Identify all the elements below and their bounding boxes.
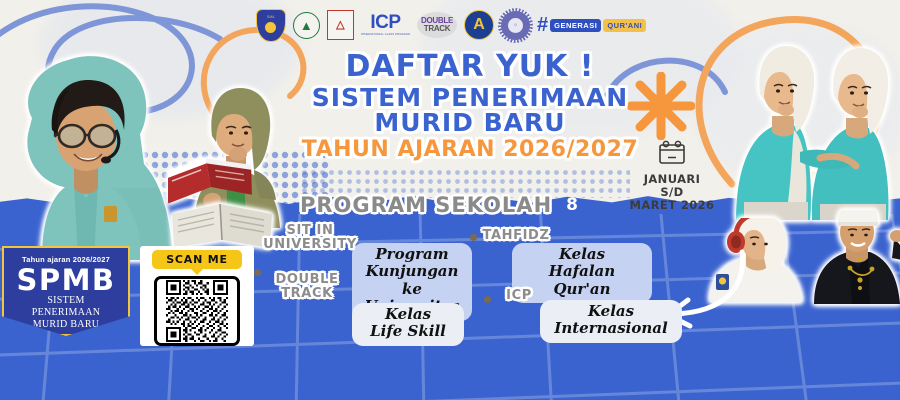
schedule-block: JANUARI S/D MARET 2026 — [618, 140, 726, 212]
program-tag-tahfidz-line1: TAHFIDZ — [478, 229, 554, 243]
sekolah-penggerak-logo: △ — [327, 10, 354, 40]
hashtag-icon: # — [537, 15, 548, 35]
program-desc-life-skill-line1: Kelas — [362, 306, 454, 323]
schedule-month-end: MARET 2026 — [618, 199, 726, 212]
partner-logo-strip: SMA ▲ △ ICP INTERNATIONAL CLASS PROGRAM … — [236, 6, 666, 44]
bullet-dot-tahfidz — [470, 234, 477, 241]
spmb-card-acronym: SPMB — [16, 265, 115, 295]
headline-block: DAFTAR YUK ! SISTEM PENERIMAAN MURID BAR… — [295, 52, 645, 161]
double-track-logo: DOUBLE TRACK — [417, 12, 457, 38]
program-desc-internasional-line2: Internasional — [550, 320, 672, 337]
icp-logo: ICP INTERNATIONAL CLASS PROGRAM — [361, 14, 410, 35]
program-tag-double-track: DOUBLE TRACK — [262, 273, 352, 301]
program-desc-kelas-life-skill: Kelas Life Skill — [352, 303, 464, 346]
program-tag-double-track-line2: TRACK — [262, 287, 352, 301]
student-formal-attire-photo — [808, 210, 900, 304]
program-tag-icp-line1: ICP — [496, 289, 542, 303]
spmb-promo-banner: SMA ▲ △ ICP INTERNATIONAL CLASS PROGRAM … — [0, 0, 900, 400]
program-desc-kunjungan-line1: Program — [362, 246, 462, 263]
program-tag-icp: ICP — [496, 289, 542, 303]
two-students-hijab-photo — [724, 20, 896, 220]
calendar-icon — [657, 140, 687, 165]
program-section-title: PROGRAM SEKOLAH — [300, 193, 552, 217]
muhammadiyah-sun-logo: ☼ — [501, 11, 530, 40]
qurani-label: QUR'ANI — [603, 19, 646, 32]
headline-tahun-ajaran: TAHUN AJARAN 2026/2027 — [295, 139, 645, 161]
program-tag-double-track-line1: DOUBLE — [262, 273, 352, 287]
schedule-month-start: JANUARI — [618, 173, 726, 186]
icp-logo-subtext: INTERNATIONAL CLASS PROGRAM — [361, 33, 410, 36]
qr-code-icon[interactable] — [162, 280, 232, 342]
program-tag-sit-in-university: SIT IN UNIVERSITY — [262, 224, 358, 252]
qr-scan-card[interactable]: SCAN ME — [140, 246, 254, 346]
scan-me-label: SCAN ME — [152, 250, 242, 269]
bullet-dot-icp — [484, 296, 491, 303]
adiwiyata-a-text: A — [473, 17, 485, 33]
double-track-line2: TRACK — [424, 25, 451, 33]
generasi-qurani-logo: # GENERASI QUR'ANI — [537, 15, 646, 35]
program-desc-internasional-line1: Kelas — [550, 303, 672, 320]
program-desc-kunjungan-line2: Kunjungan ke — [362, 263, 462, 298]
spmb-card-sub-line2: PENERIMAAN — [32, 308, 101, 319]
spmb-card-sub-line1: SISTEM — [47, 296, 84, 307]
headline-daftar-yuk: DAFTAR YUK ! — [295, 52, 645, 83]
shield-emblem-icon — [263, 20, 278, 35]
program-tag-sit-in-university-line2: UNIVERSITY — [262, 238, 358, 252]
headline-murid-baru: MURID BARU — [295, 110, 645, 136]
program-desc-kelas-internasional: Kelas Internasional — [540, 300, 682, 343]
schedule-separator: S/D — [618, 186, 726, 199]
qr-code-frame — [154, 276, 240, 346]
school-shield-logo: SMA — [256, 9, 286, 42]
icp-logo-text: ICP — [370, 14, 400, 32]
sun-center-icon: ☼ — [508, 18, 523, 33]
program-section-header: PROGRAM SEKOLAH 8 — [300, 193, 578, 217]
program-section-count: 8 — [566, 195, 578, 215]
generasi-label: GENERASI — [550, 19, 601, 32]
program-tag-tahfidz: TAHFIDZ — [478, 229, 554, 243]
program-desc-life-skill-line2: Life Skill — [362, 323, 454, 340]
tree-icon: ▲ — [300, 19, 313, 32]
bullet-dot-sit-in — [254, 269, 261, 276]
program-desc-hafalan-line1: Kelas — [522, 246, 642, 263]
program-tag-sit-in-university-line1: SIT IN — [262, 224, 358, 238]
open-book-photo — [168, 198, 276, 250]
headline-sistem-penerimaan: SISTEM PENERIMAAN — [295, 85, 645, 111]
adiwiyata-logo: ▲ — [293, 12, 320, 39]
adiwiyata-a-logo: A — [464, 10, 494, 40]
penggerak-glyph-icon: △ — [336, 20, 344, 31]
